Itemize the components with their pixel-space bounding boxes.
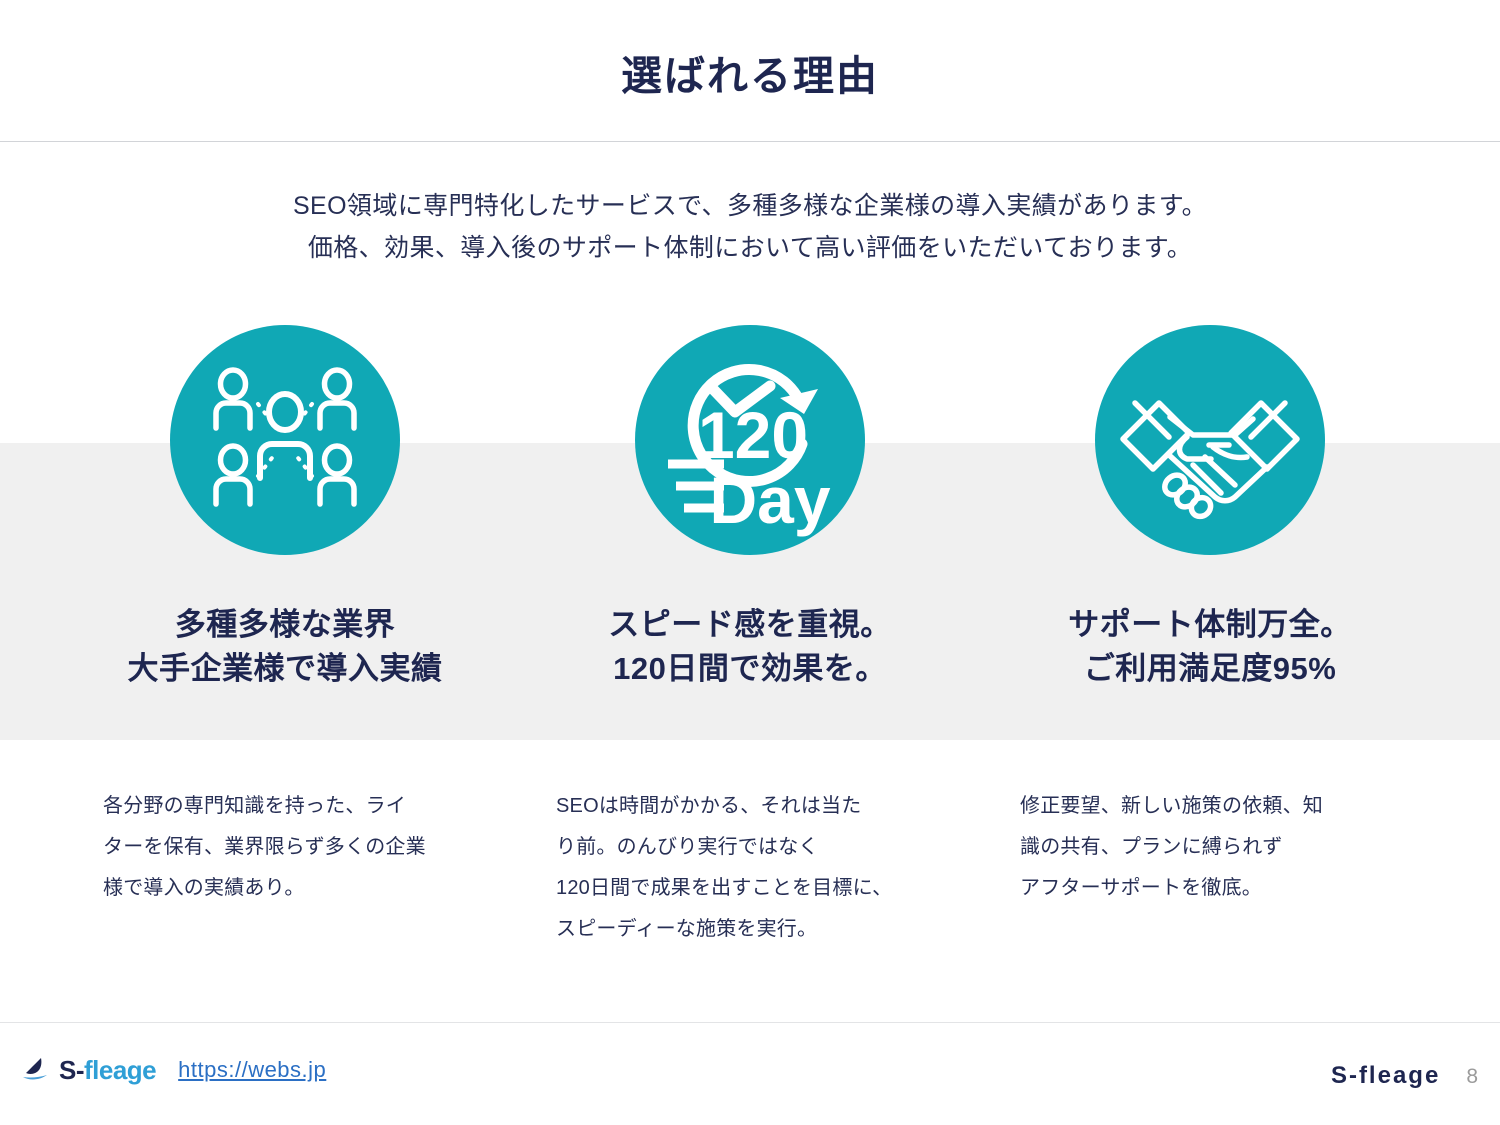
feature-column-1: 多種多様な業界 大手企業様で導入実績 各分野の専門知識を持った、ライ ターを保有…: [55, 325, 515, 691]
footer-right-group: S-fleage 8: [1331, 1062, 1478, 1090]
feature-body-2-line-2: り前。のんびり実行ではなく: [556, 827, 956, 868]
brand-suffix: fleage: [84, 1055, 156, 1085]
footer: S-fleage https://webs.jp S-fleage 8: [0, 1022, 1500, 1125]
page-number: 8: [1466, 1065, 1478, 1089]
feature-body-2-line-3: 120日間で成果を出すことを目標に、: [556, 868, 956, 909]
feature-body-1: 各分野の専門知識を持った、ライ ターを保有、業界限らず多くの企業 様で導入の実績…: [103, 786, 503, 909]
feature-body-1-line-1: 各分野の専門知識を持った、ライ: [103, 786, 503, 827]
feature-body-1-line-3: 様で導入の実績あり。: [103, 868, 503, 909]
people-network-icon: [170, 325, 400, 555]
sail-logo-icon: [22, 1056, 52, 1084]
feature-body-3-line-1: 修正要望、新しい施策の依頼、知: [1020, 786, 1420, 827]
brand-prefix: S-: [59, 1055, 84, 1085]
feature-columns: 多種多様な業界 大手企業様で導入実績 各分野の専門知識を持った、ライ ターを保有…: [0, 0, 1500, 1125]
feature-heading-1-line-2: 大手企業様で導入実績: [55, 647, 515, 691]
feature-body-3-line-2: 識の共有、プランに縛られず: [1020, 827, 1420, 868]
feature-heading-1: 多種多様な業界 大手企業様で導入実績: [55, 603, 515, 691]
feature-heading-2: スピード感を重視。 120日間で効果を。: [520, 603, 980, 691]
icon-number-120: 120: [698, 398, 808, 472]
footer-left-group: S-fleage https://webs.jp: [22, 1056, 326, 1084]
feature-heading-1-line-1: 多種多様な業界: [55, 603, 515, 647]
feature-column-3: サポート体制万全。 ご利用満足度95% 修正要望、新しい施策の依頼、知 識の共有…: [980, 325, 1440, 691]
feature-body-2-line-4: スピーディーな施策を実行。: [556, 909, 956, 950]
feature-body-1-line-2: ターを保有、業界限らず多くの企業: [103, 827, 503, 868]
120-day-clock-icon: 120 Day: [635, 325, 865, 555]
feature-body-2-line-1: SEOは時間がかかる、それは当た: [556, 786, 956, 827]
feature-heading-3: サポート体制万全。 ご利用満足度95%: [980, 603, 1440, 691]
footer-url-link[interactable]: https://webs.jp: [178, 1057, 326, 1083]
brand-logo: S-fleage: [22, 1056, 156, 1084]
handshake-icon: [1095, 325, 1325, 555]
feature-body-2: SEOは時間がかかる、それは当た り前。のんびり実行ではなく 120日間で成果を…: [556, 786, 956, 950]
feature-heading-3-line-2: ご利用満足度95%: [980, 647, 1440, 691]
feature-body-3-line-3: アフターサポートを徹底。: [1020, 868, 1420, 909]
feature-column-2: 120 Day スピード感を重視。 120日間で効果を。 SEOは時間がかかる、…: [520, 325, 980, 691]
feature-heading-2-line-1: スピード感を重視。: [520, 603, 980, 647]
feature-heading-3-line-1: サポート体制万全。: [980, 603, 1440, 647]
icon-label-day: Day: [709, 463, 830, 537]
feature-body-3: 修正要望、新しい施策の依頼、知 識の共有、プランに縛られず アフターサポートを徹…: [1020, 786, 1420, 909]
footer-brand-label: S-fleage: [1331, 1062, 1440, 1090]
brand-wordmark: S-fleage: [59, 1057, 156, 1083]
feature-heading-2-line-2: 120日間で効果を。: [520, 647, 980, 691]
